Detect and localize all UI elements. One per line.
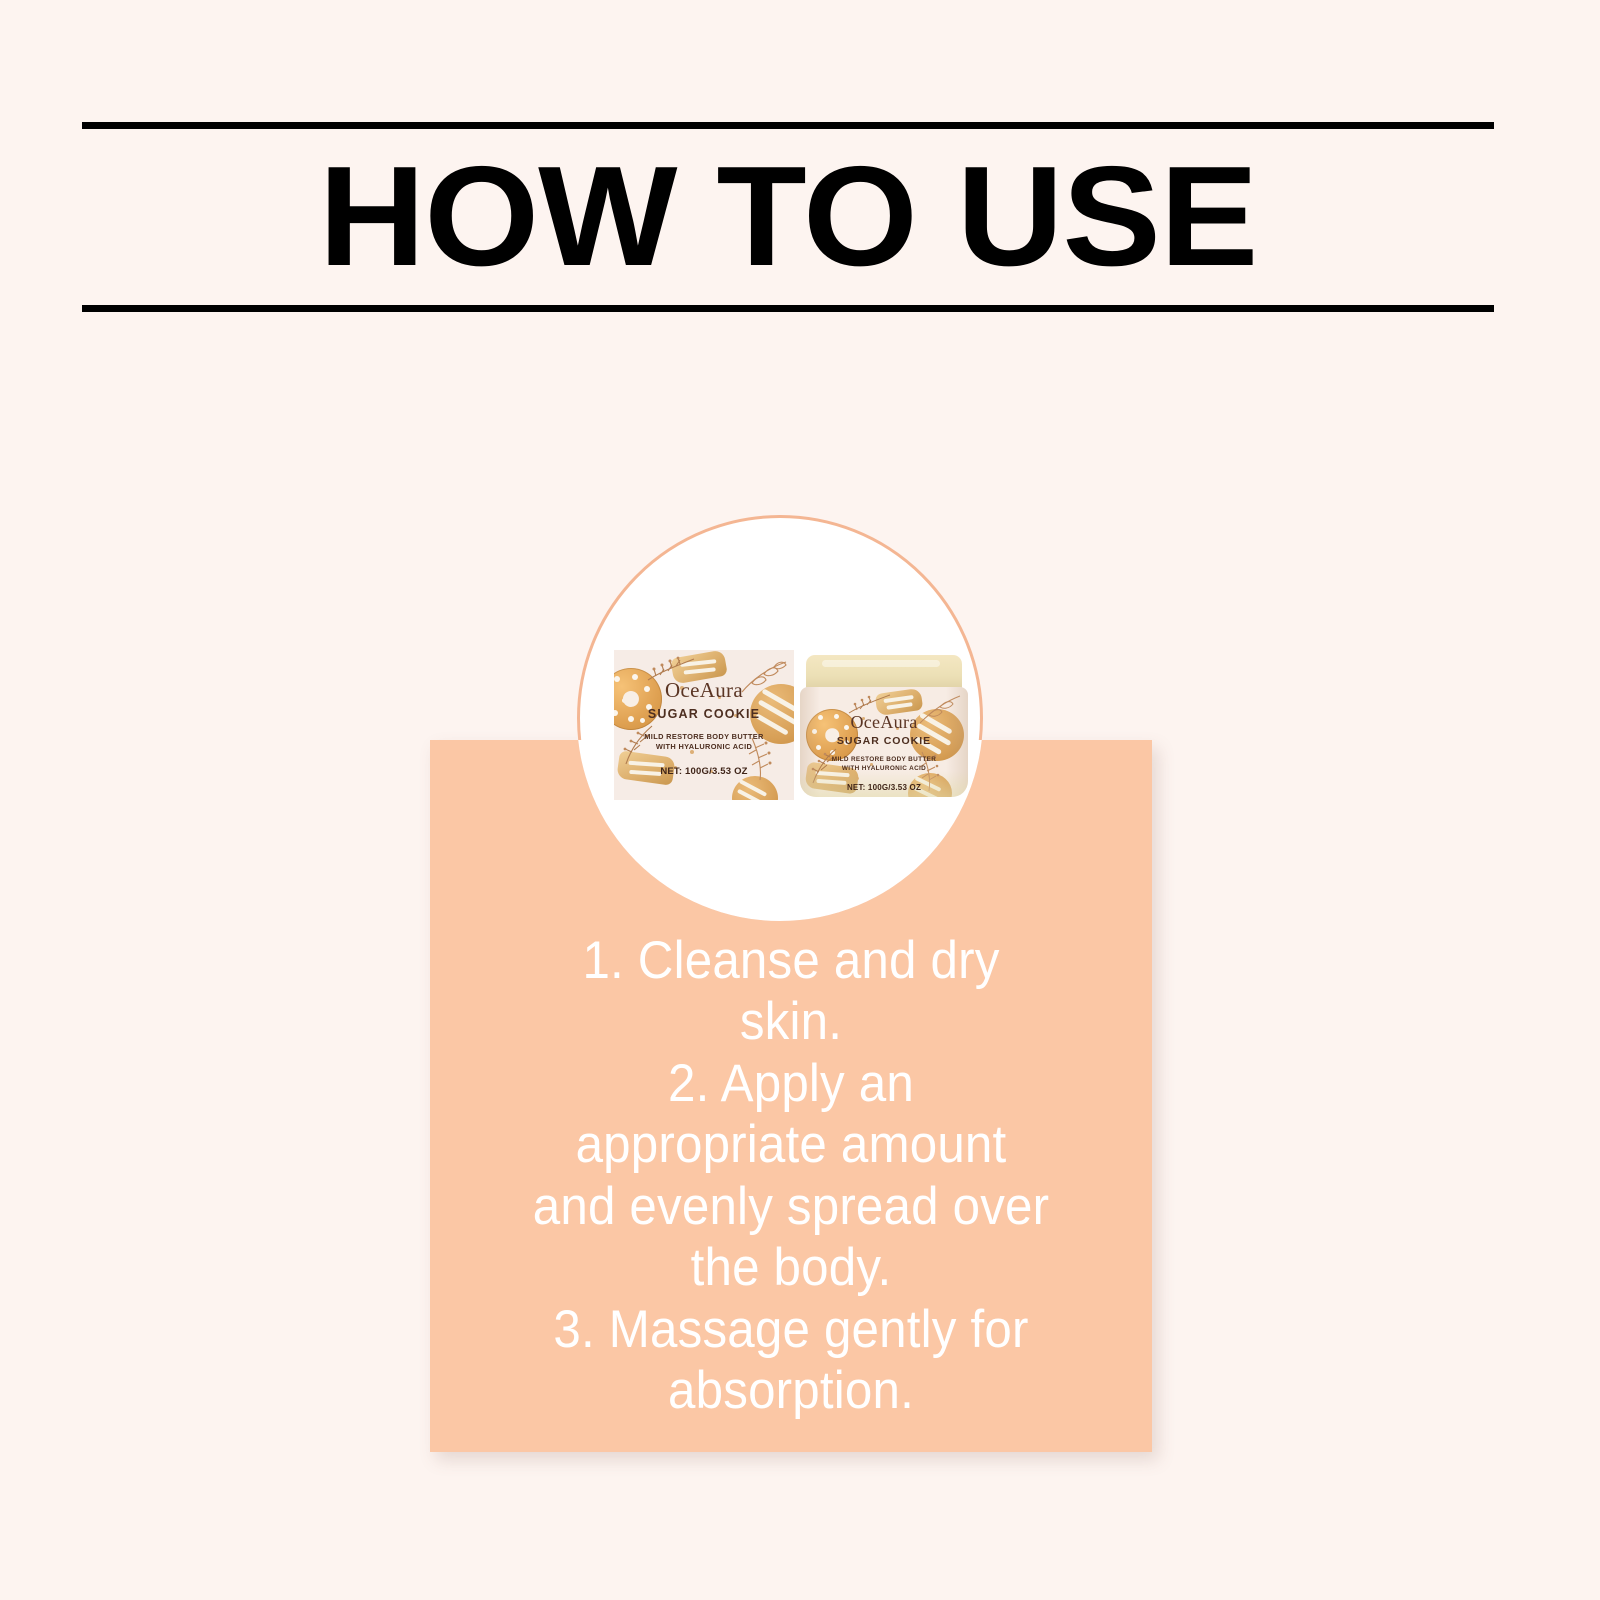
instruction-line: 3. Massage gently for bbox=[489, 1299, 1094, 1360]
page-header: HOW TO USE bbox=[82, 122, 1494, 312]
product-description-line1: MILD RESTORE BODY BUTTER bbox=[800, 755, 968, 764]
box-label: OceAura SUGAR COOKIE MILD RESTORE BODY B… bbox=[614, 680, 794, 776]
page-title: HOW TO USE bbox=[54, 146, 1522, 288]
instruction-line: appropriate amount bbox=[489, 1114, 1094, 1175]
product-flavor: SUGAR COOKIE bbox=[614, 708, 794, 721]
product-description-line2: WITH HYALURONIC ACID bbox=[800, 764, 968, 773]
jar-label: OceAura SUGAR COOKIE MILD RESTORE BODY B… bbox=[800, 713, 968, 792]
net-weight: NET: 100G/3.53 OZ bbox=[614, 767, 794, 777]
jar-body: OceAura SUGAR COOKIE MILD RESTORE BODY B… bbox=[800, 687, 968, 797]
instruction-line: and evenly spread over bbox=[489, 1176, 1094, 1237]
product-box: OceAura SUGAR COOKIE MILD RESTORE BODY B… bbox=[614, 650, 794, 800]
instruction-line: 2. Apply an bbox=[489, 1053, 1094, 1114]
product-jar: OceAura SUGAR COOKIE MILD RESTORE BODY B… bbox=[800, 655, 968, 797]
product-description-line1: MILD RESTORE BODY BUTTER bbox=[614, 732, 794, 743]
product-description-line2: WITH HYALURONIC ACID bbox=[614, 742, 794, 753]
net-weight: NET: 100G/3.53 OZ bbox=[800, 784, 968, 792]
brand-name: OceAura bbox=[614, 680, 794, 701]
instruction-line: skin. bbox=[489, 991, 1094, 1052]
instruction-line: 1. Cleanse and dry bbox=[489, 930, 1094, 991]
cookie-round-icon bbox=[732, 776, 778, 800]
header-rule-bottom bbox=[82, 305, 1494, 312]
brand-name: OceAura bbox=[800, 713, 968, 731]
product-packshot: OceAura SUGAR COOKIE MILD RESTORE BODY B… bbox=[614, 648, 968, 800]
instruction-line: absorption. bbox=[489, 1360, 1094, 1421]
instruction-line: the body. bbox=[489, 1237, 1094, 1298]
header-rule-top bbox=[82, 122, 1494, 129]
product-flavor: SUGAR COOKIE bbox=[800, 736, 968, 747]
instructions-text: 1. Cleanse and dry skin. 2. Apply an app… bbox=[455, 930, 1126, 1422]
